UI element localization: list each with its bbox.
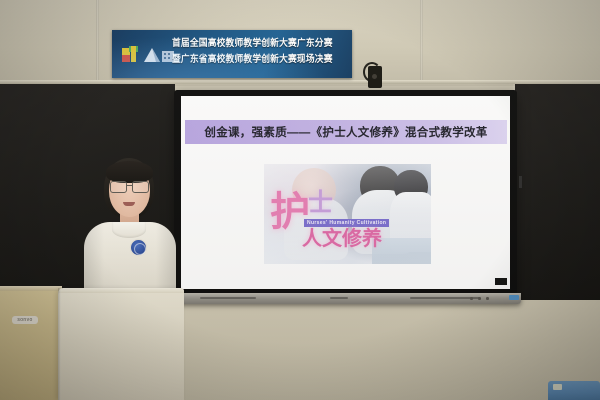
classroom-scene: 首届全国高校教师教学创新大赛广东分赛 暨广东省高校教师教学创新大赛现场决赛 创金…: [0, 0, 600, 400]
slide-screen[interactable]: 创金课，强素质——《护士人文修养》混合式教学改革 护 士 Nurses' Hum…: [181, 96, 510, 289]
camera-lens: [372, 74, 377, 79]
wall-panel-seam-right: [420, 0, 423, 84]
graphic-english-caption: Nurses' Humanity Cultivation: [304, 219, 389, 227]
glasses-lens-right: [132, 181, 149, 193]
tv-station-logo: [120, 42, 178, 68]
presenter-fringe: [106, 161, 153, 183]
uniform-collar: [112, 222, 146, 238]
panel-bottom-bezel: [170, 293, 521, 304]
glasses-lens-left: [110, 181, 127, 193]
badge-inner-ring: [134, 243, 146, 255]
lectern-podium: [58, 288, 184, 400]
cabinet-brand-label: sonvo: [12, 316, 38, 324]
lectern-edge-seam: [58, 288, 61, 400]
chair-label-tag: [553, 384, 562, 390]
course-cover-graphic: 护 士 Nurses' Humanity Cultivation 人文修养: [264, 164, 431, 264]
glasses-bridge: [126, 185, 133, 186]
side-cabinet-top: [0, 286, 62, 291]
bezel-vent: [330, 297, 348, 299]
banner-text-block: 首届全国高校教师教学创新大赛广东分赛 暨广东省高校教师教学创新大赛现场决赛: [172, 35, 348, 65]
side-cabinet: [0, 286, 62, 400]
banner-line-2: 暨广东省高校教师教学创新大赛现场决赛: [172, 51, 334, 65]
presenter-badge: [131, 240, 146, 255]
slide-title: 创金课，强素质——《护士人文修养》混合式教学改革: [204, 124, 487, 140]
interactive-flat-panel[interactable]: 创金课，强素质——《护士人文修养》混合式教学改革 护 士 Nurses' Hum…: [174, 90, 517, 295]
screen-corner-marker: [495, 278, 507, 285]
graphic-subtitle: 人文修养: [302, 230, 382, 249]
competition-banner: 首届全国高校教师教学创新大赛广东分赛 暨广东省高校教师教学创新大赛现场决赛: [112, 30, 352, 78]
bezel-vent: [200, 297, 256, 299]
banner-line-1: 首届全国高校教师教学创新大赛广东分赛: [172, 35, 334, 49]
bezel-control-button[interactable]: [478, 297, 481, 300]
panel-power-indicator: [509, 295, 519, 300]
blackboard-panel-right: [515, 84, 600, 300]
presenter-nurse-instructor: [78, 158, 182, 300]
wall-camera: [363, 60, 385, 90]
lectern-top-surface: [58, 288, 184, 293]
wall-panel-seam-left: [96, 0, 99, 84]
bezel-control-button[interactable]: [470, 297, 473, 300]
panel-side-button[interactable]: [519, 176, 522, 188]
slide-title-bar: 创金课，强素质——《护士人文修养》混合式教学改革: [185, 120, 507, 144]
graphic-char-shi: 士: [308, 192, 333, 215]
bezel-control-button[interactable]: [486, 297, 489, 300]
presenter-glasses: [109, 181, 150, 192]
